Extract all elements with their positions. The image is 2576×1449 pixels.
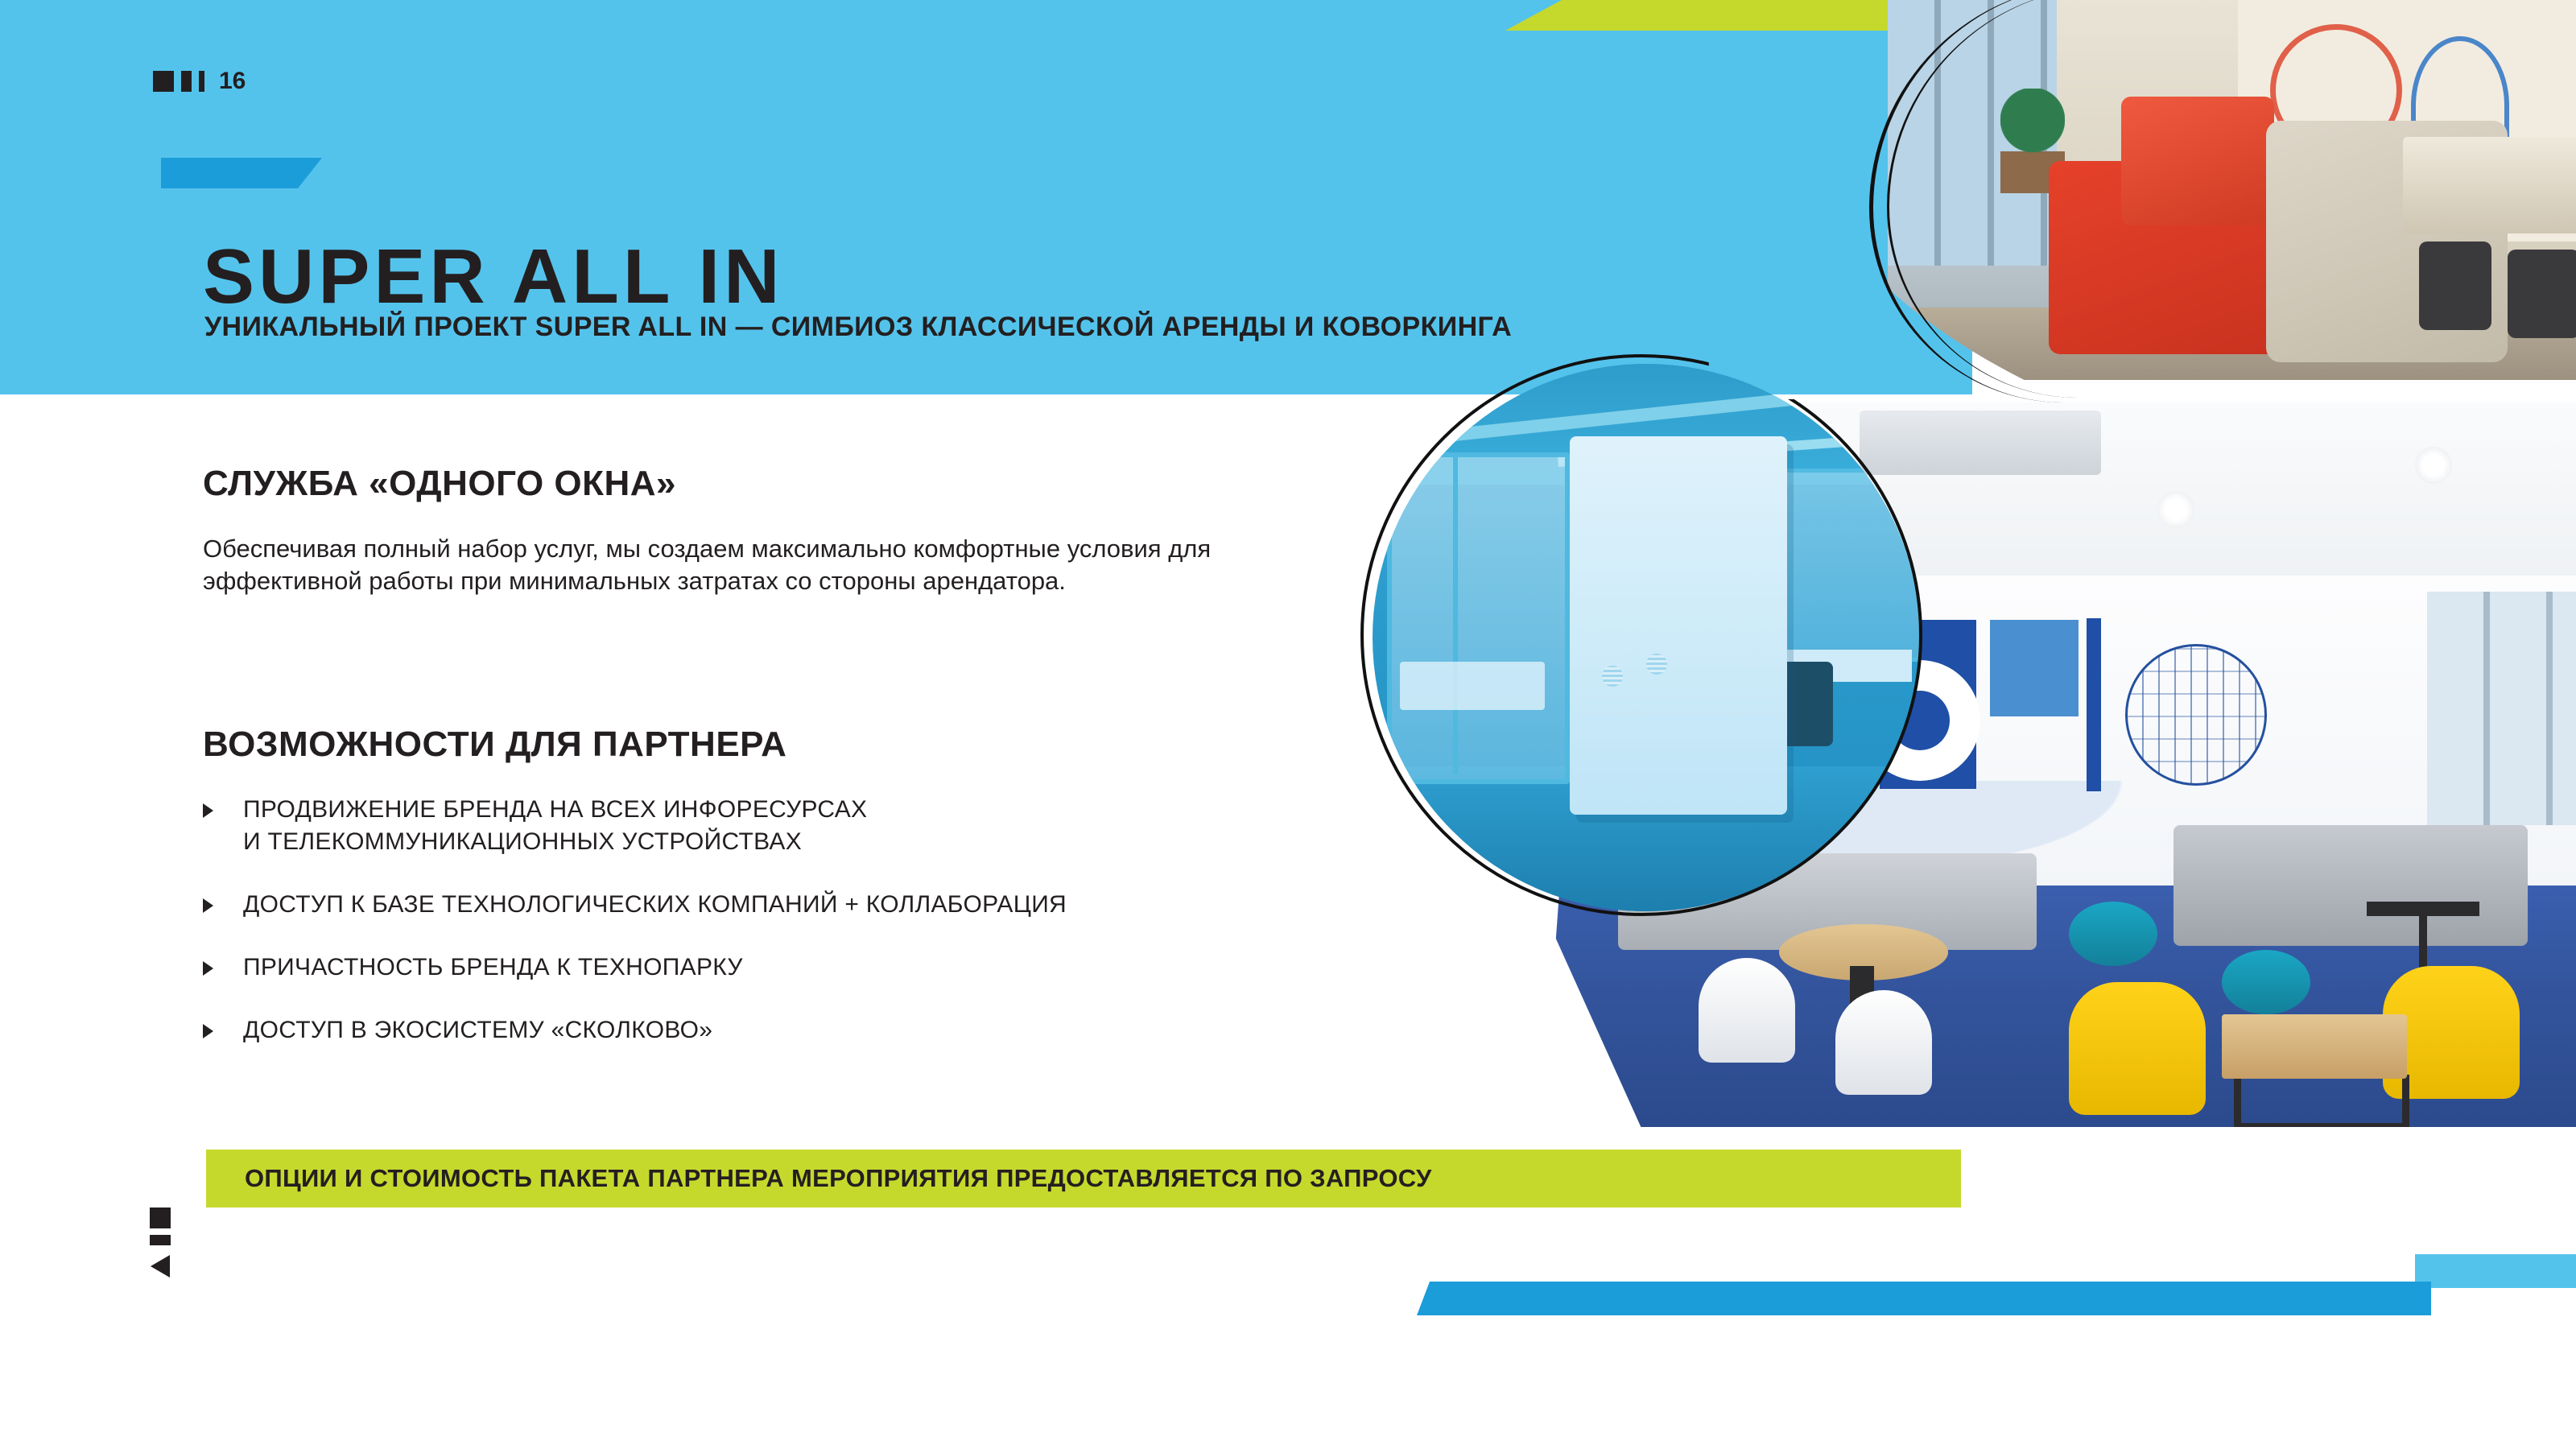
callout-banner: ОПЦИИ И СТОИМОСТЬ ПАКЕТА ПАРТНЕРА МЕРОПР… <box>206 1150 1961 1207</box>
section-heading-partner-opportunities: ВОЗМОЖНОСТИ ДЛЯ ПАРТНЕРА <box>203 724 786 765</box>
section-heading-one-window: СЛУЖБА «ОДНОГО ОКНА» <box>203 464 676 504</box>
wall-graphic-globe <box>2125 644 2267 786</box>
vent-icon <box>1602 666 1623 687</box>
pod-glass-mullion <box>1453 452 1458 774</box>
triangle-bullet-icon <box>203 803 213 818</box>
bullet-list: ПРОДВИЖЕНИЕ БРЕНДА НА ВСЕХ ИНФОРЕСУРСАХ … <box>203 794 1346 1076</box>
coffee-table <box>2222 1014 2407 1079</box>
marker-bar-medium <box>150 1235 171 1245</box>
bottom-accent-parallelogram <box>1417 1282 2431 1315</box>
triangle-bullet-icon <box>203 961 213 976</box>
photo-circle-pod <box>1373 364 1920 911</box>
teal-pouf <box>2222 950 2310 1014</box>
white-chair <box>1699 958 1795 1063</box>
downlight-icon <box>2415 447 2452 484</box>
triangle-bullet-icon <box>203 1024 213 1038</box>
list-item: ПРОДВИЖЕНИЕ БРЕНДА НА ВСЕХ ИНФОРЕСУРСАХ … <box>203 794 1346 858</box>
section-paragraph: Обеспечивая полный набор услуг, мы созда… <box>203 533 1330 597</box>
teal-pouf <box>2069 902 2157 966</box>
downlight-icon <box>2157 491 2194 528</box>
page-number: 16 <box>219 71 246 92</box>
pod-seat <box>1400 662 1545 710</box>
pod-glass-door <box>1387 452 1570 784</box>
high-table <box>2367 902 2479 916</box>
bottom-marker <box>150 1207 171 1278</box>
red-sofa-back <box>2121 97 2274 225</box>
office-chair <box>2508 250 2576 338</box>
chevron-left-icon <box>151 1255 170 1278</box>
wall-graphic-rect-light <box>1990 620 2079 716</box>
grey-bench-sofa-right <box>2173 825 2528 946</box>
meeting-pod <box>1570 436 1787 815</box>
list-item-label: ПРИЧАСТНОСТЬ БРЕНДА К ТЕХНОПАРКУ <box>243 952 743 984</box>
photo-top-right <box>1888 0 2576 380</box>
page-subtitle: УНИКАЛЬНЫЙ ПРОЕКТ SUPER ALL IN — СИМБИОЗ… <box>204 311 1512 344</box>
photo-top-right-clip <box>1888 0 2576 380</box>
window-right <box>2427 592 2576 825</box>
list-item-label: ДОСТУП К БАЗЕ ТЕХНОЛОГИЧЕСКИХ КОМПАНИЙ +… <box>243 889 1067 921</box>
marker-bar-small <box>199 71 204 92</box>
office-chair <box>2419 242 2491 330</box>
callout-banner-label: ОПЦИИ И СТОИМОСТЬ ПАКЕТА ПАРТНЕРА МЕРОПР… <box>245 1164 1432 1193</box>
list-item-label: ДОСТУП В ЭКОСИСТЕМУ «СКОЛКОВО» <box>243 1014 712 1046</box>
vent-icon <box>1646 654 1667 675</box>
marker-bar-large <box>153 71 174 92</box>
list-item: ПРИЧАСТНОСТЬ БРЕНДА К ТЕХНОПАРКУ <box>203 952 1346 984</box>
list-item: ДОСТУП В ЭКОСИСТЕМУ «СКОЛКОВО» <box>203 1014 1346 1046</box>
desk <box>2403 137 2576 233</box>
bottom-accent-rect <box>2415 1254 2576 1288</box>
triangle-bullet-icon <box>203 898 213 913</box>
coffee-table-legs <box>2234 1075 2409 1127</box>
slide-root: 16 SUPER ALL IN УНИКАЛЬНЫЙ ПРОЕКТ SUPER … <box>0 0 2576 1449</box>
wall-graphic-bar <box>2087 618 2101 791</box>
yellow-armchair <box>2069 982 2206 1115</box>
white-chair <box>1835 990 1932 1095</box>
page-marker: 16 <box>153 71 246 92</box>
marker-bar-large <box>150 1207 171 1228</box>
page-title: SUPER ALL IN <box>203 238 783 316</box>
coworking-lounge-image <box>1888 0 2576 380</box>
marker-bar-medium <box>181 71 192 92</box>
list-item-label: ПРОДВИЖЕНИЕ БРЕНДА НА ВСЕХ ИНФОРЕСУРСАХ … <box>243 794 867 858</box>
title-accent-shape <box>161 158 322 188</box>
office-pod-image <box>1373 364 1920 911</box>
list-item: ДОСТУП К БАЗЕ ТЕХНОЛОГИЧЕСКИХ КОМПАНИЙ +… <box>203 889 1346 921</box>
